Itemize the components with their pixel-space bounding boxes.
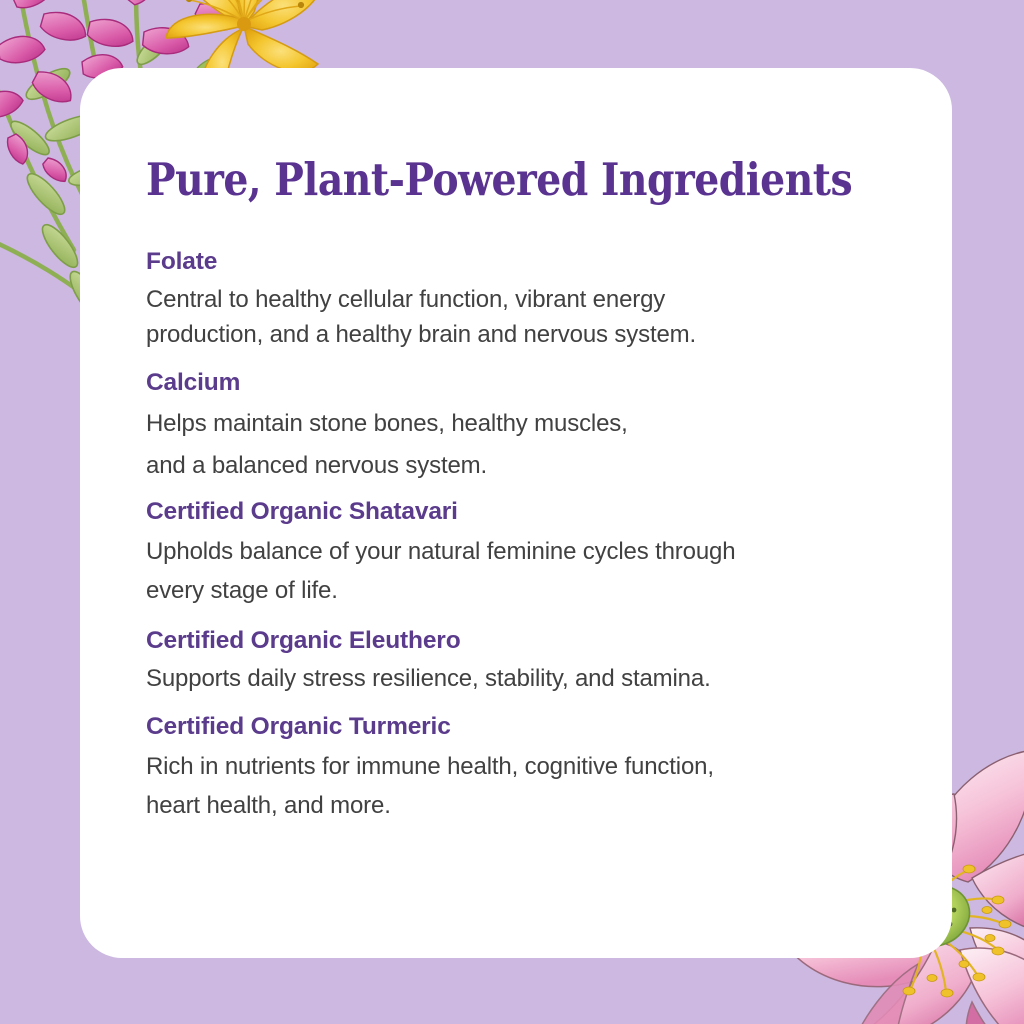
ingredient-name: Certified Organic Shatavari bbox=[146, 497, 896, 527]
ingredient-name: Calcium bbox=[146, 368, 896, 398]
ingredient-description: Helps maintain stone bones, healthy musc… bbox=[146, 403, 896, 487]
ingredient-description: Upholds balance of your natural feminine… bbox=[146, 532, 896, 610]
ingredient-description: Supports daily stress resilience, stabil… bbox=[146, 661, 896, 696]
ingredient-name: Certified Organic Eleuthero bbox=[146, 626, 896, 656]
card-content: Pure, Plant-Powered Ingredients Folate C… bbox=[80, 68, 952, 825]
ingredient-list: Folate Central to healthy cellular funct… bbox=[146, 247, 896, 824]
ingredient-name: Certified Organic Turmeric bbox=[146, 712, 896, 742]
list-item: Folate Central to healthy cellular funct… bbox=[146, 247, 896, 352]
ingredients-card: Pure, Plant-Powered Ingredients Folate C… bbox=[80, 68, 952, 958]
ingredient-description: Central to healthy cellular function, vi… bbox=[146, 282, 896, 352]
list-item: Certified Organic Turmeric Rich in nutri… bbox=[146, 712, 896, 825]
ingredient-name: Folate bbox=[146, 247, 896, 277]
list-item: Calcium Helps maintain stone bones, heal… bbox=[146, 368, 896, 487]
list-item: Certified Organic Shatavari Upholds bala… bbox=[146, 497, 896, 610]
ingredient-description: Rich in nutrients for immune health, cog… bbox=[146, 747, 896, 825]
list-item: Certified Organic Eleuthero Supports dai… bbox=[146, 626, 896, 696]
page-title: Pure, Plant-Powered Ingredients bbox=[146, 156, 802, 203]
